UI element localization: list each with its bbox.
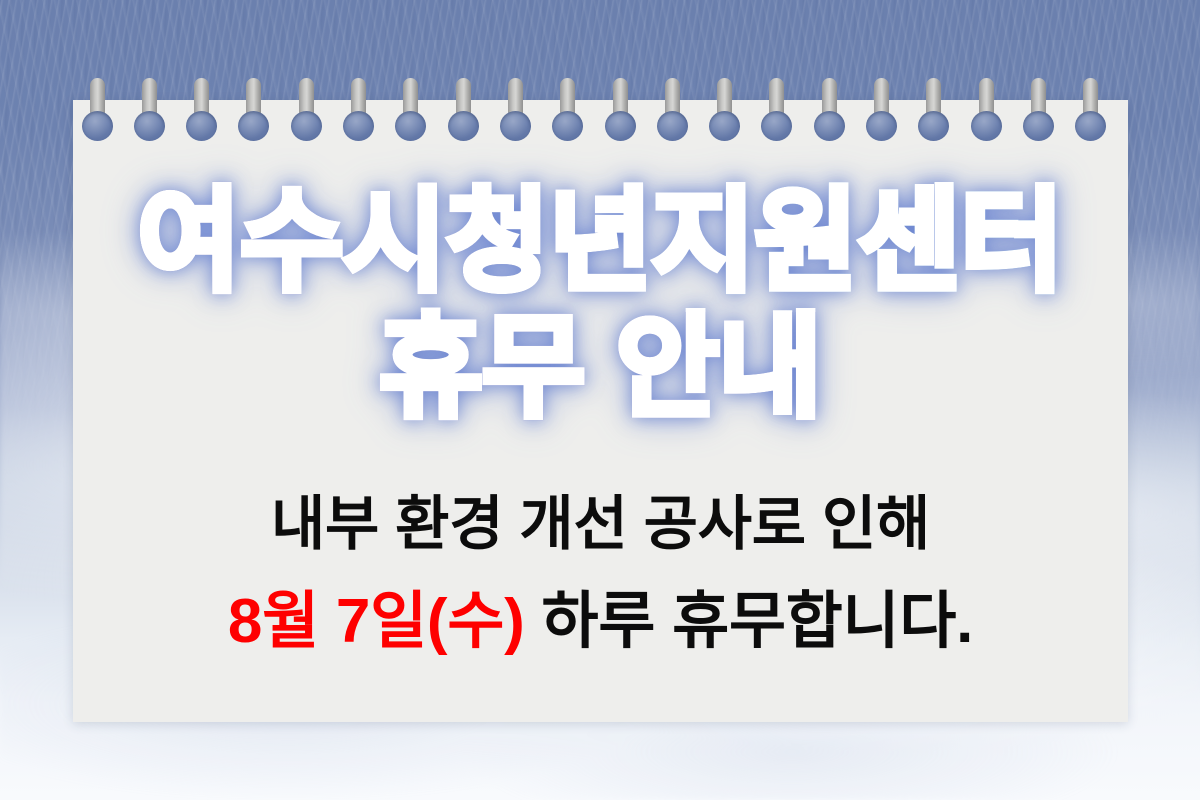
body-line-2: 8월 7일(수) 하루 휴무합니다. bbox=[73, 579, 1128, 665]
headline-line-1: 여수시청년지원센터 bbox=[138, 179, 1064, 304]
spiral-ring-hole bbox=[709, 111, 740, 141]
spiral-ring-hole bbox=[291, 111, 322, 141]
spiral-ring-hole bbox=[657, 111, 688, 141]
spiral-ring-hole bbox=[605, 111, 636, 141]
spiral-ring-hole bbox=[134, 111, 165, 141]
spiral-ring-hole bbox=[395, 111, 426, 141]
headline-block: 여수시청년지원센터 휴무 안내 bbox=[73, 186, 1128, 424]
notice-poster: 여수시청년지원센터 휴무 안내 내부 환경 개선 공사로 인해 8월 7일(수)… bbox=[0, 0, 1200, 800]
spiral-ring-hole bbox=[238, 111, 269, 141]
spiral-ring-hole bbox=[1075, 111, 1106, 141]
body-copy-block: 내부 환경 개선 공사로 인해 8월 7일(수) 하루 휴무합니다. bbox=[73, 484, 1128, 665]
spiral-ring-hole bbox=[866, 111, 897, 141]
spiral-ring-hole bbox=[971, 111, 1002, 141]
spiral-ring-hole bbox=[448, 111, 479, 141]
spiral-ring-hole bbox=[814, 111, 845, 141]
spiral-ring-hole bbox=[1023, 111, 1054, 141]
spiral-ring-hole bbox=[82, 111, 113, 141]
headline-line-2: 휴무 안내 bbox=[73, 312, 1128, 424]
spiral-ring-hole bbox=[343, 111, 374, 141]
spiral-ring-hole bbox=[761, 111, 792, 141]
spiral-ring-hole bbox=[552, 111, 583, 141]
spiral-ring-hole bbox=[500, 111, 531, 141]
spiral-binding bbox=[0, 0, 1200, 160]
body-line-1: 내부 환경 개선 공사로 인해 bbox=[73, 484, 1128, 565]
closure-date: 8월 7일(수) bbox=[228, 587, 525, 656]
spiral-ring-hole bbox=[186, 111, 217, 141]
closure-statement: 하루 휴무합니다. bbox=[525, 587, 974, 656]
spiral-ring-hole bbox=[918, 111, 949, 141]
